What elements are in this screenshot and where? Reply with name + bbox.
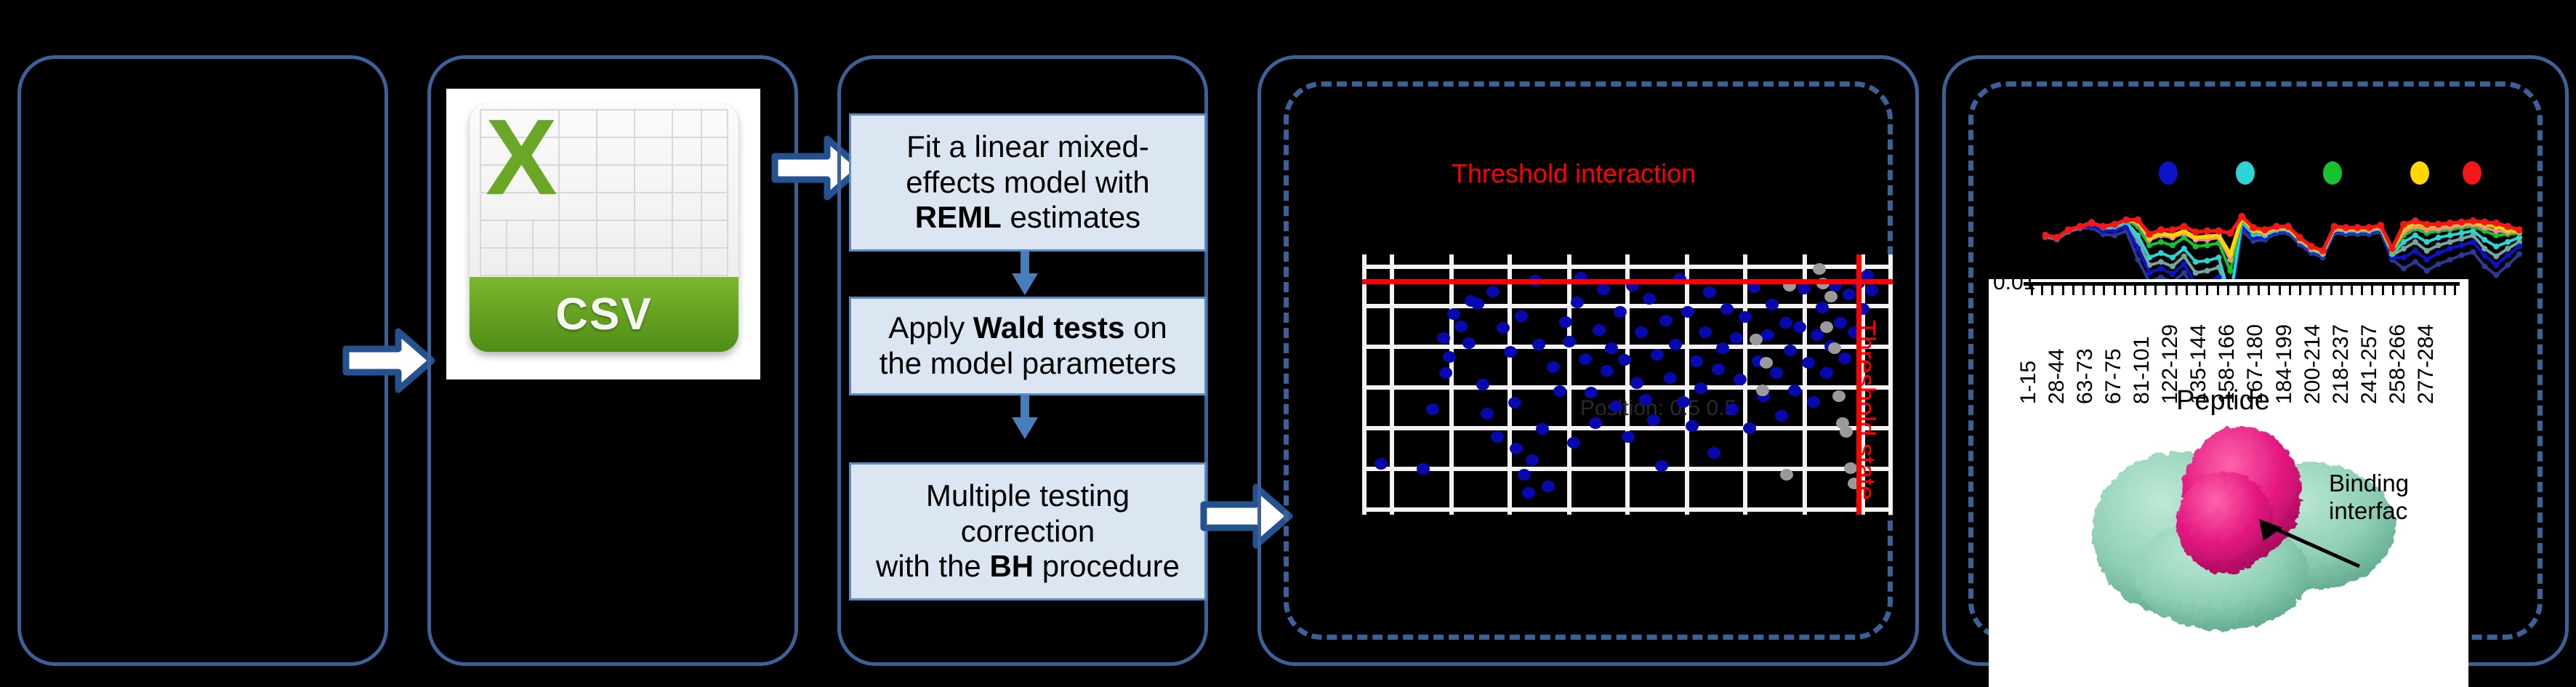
line-point-series-cyan bbox=[2181, 246, 2187, 252]
line-point-series-red bbox=[2308, 243, 2315, 250]
line-point-series-navy bbox=[2181, 270, 2187, 276]
line-point-series-blue bbox=[2424, 257, 2430, 262]
line-point-series-cyan bbox=[2193, 259, 2199, 265]
line-point-series-red bbox=[2077, 223, 2084, 230]
line-point-series-teal bbox=[2401, 246, 2407, 252]
protein-structure-image bbox=[2069, 417, 2418, 635]
x-axis-title: Peptide bbox=[2176, 385, 2270, 417]
scatter-point-significant bbox=[1843, 289, 1856, 300]
scatter-point-significant bbox=[1559, 316, 1572, 328]
line-point-series-blue bbox=[2436, 250, 2442, 256]
line-point-series-cyan bbox=[2447, 233, 2453, 238]
scatter-point-significant bbox=[1766, 299, 1779, 310]
line-point-series-red bbox=[2388, 245, 2396, 252]
scatter-point-significant bbox=[1426, 403, 1439, 415]
line-point-series-navy bbox=[2436, 261, 2442, 267]
scatter-point-significant bbox=[1820, 367, 1833, 379]
line-point-series-teal bbox=[2493, 254, 2499, 260]
scatter-point-nonsignificant bbox=[1813, 263, 1826, 275]
scatter-point-nonsignificant bbox=[1832, 390, 1846, 402]
multiple-testing-box-text: Multiple testing correction with the BH … bbox=[872, 478, 1184, 584]
line-point-series-cyan bbox=[2158, 250, 2164, 256]
line-point-series-green bbox=[2193, 244, 2199, 249]
scatter-point-nonsignificant bbox=[1756, 385, 1769, 396]
scatter-point-significant bbox=[1655, 460, 1668, 472]
csv-icon-card: X CSV bbox=[446, 89, 760, 379]
scatter-point-significant bbox=[1553, 385, 1566, 397]
scatter-point-significant bbox=[1589, 417, 1602, 429]
fit-model-box-text: Fit a linear mixed- effects model with R… bbox=[901, 129, 1154, 236]
line-point-series-teal bbox=[2482, 246, 2487, 252]
line-point-series-green bbox=[2158, 239, 2164, 245]
peptide-tick-label: 81-101 bbox=[2130, 337, 2154, 404]
scatter-point-significant bbox=[1447, 308, 1460, 320]
line-point-series-navy bbox=[2135, 257, 2141, 262]
line-point-series-blue bbox=[2412, 248, 2418, 254]
line-point-series-cyan bbox=[2205, 258, 2210, 264]
line-point-series-blue bbox=[2146, 270, 2152, 276]
scatter-point-significant bbox=[1522, 487, 1535, 499]
scatter-point-significant bbox=[1651, 349, 1664, 361]
scatter-point-significant bbox=[1471, 298, 1484, 310]
fit-model-box[interactable]: Fit a linear mixed- effects model with R… bbox=[849, 113, 1207, 252]
line-point-series-green bbox=[2227, 268, 2233, 273]
scatter-point-significant bbox=[1571, 297, 1584, 308]
scatter-point-significant bbox=[1618, 354, 1631, 366]
scatter-point-significant bbox=[1567, 437, 1580, 449]
line-point-series-cyan bbox=[2216, 254, 2222, 260]
wald-tests-box[interactable]: Apply Wald tests on the model parameters bbox=[849, 297, 1207, 395]
scatter-point-significant bbox=[1761, 329, 1774, 341]
scatter-point-significant bbox=[1784, 345, 1797, 356]
line-point-series-teal bbox=[2459, 236, 2465, 241]
line-point-series-red bbox=[2492, 220, 2500, 227]
scatter-point-significant bbox=[1510, 443, 1523, 454]
scatter-point-significant bbox=[1659, 315, 1673, 326]
line-point-series-red bbox=[2458, 219, 2466, 226]
scatter-point-significant bbox=[1579, 353, 1592, 365]
threshold-state-label: Threshold state bbox=[1851, 320, 1881, 500]
scatter-point-significant bbox=[1476, 379, 1489, 390]
scatter-point-significant bbox=[1734, 374, 1747, 385]
peptide-tick-label: 184-199 bbox=[2272, 324, 2297, 404]
line-point-series-red bbox=[2481, 219, 2488, 226]
line-point-series-cyan bbox=[2146, 254, 2152, 260]
scatter-point-significant bbox=[1686, 420, 1699, 432]
scatter-point-significant bbox=[1374, 458, 1388, 470]
x-axis-tick-labels: 1-1528-4463-7367-7581-101122-129135-1441… bbox=[1989, 279, 2468, 381]
line-point-series-teal bbox=[2447, 239, 2453, 245]
csv-file-icon: X CSV bbox=[470, 103, 738, 352]
line-point-series-blue bbox=[2170, 271, 2175, 277]
scatter-point-significant bbox=[1437, 332, 1450, 344]
line-point-series-blue bbox=[2181, 261, 2187, 267]
line-point-series-blue bbox=[2516, 244, 2522, 249]
line-point-series-red bbox=[2111, 221, 2118, 228]
peptide-tick-label: 241-257 bbox=[2357, 324, 2382, 404]
scatter-point-significant bbox=[1542, 481, 1555, 492]
legend-dot-cyan bbox=[2236, 161, 2255, 185]
line-point-series-red bbox=[2377, 222, 2384, 229]
peptide-tick-label: 277-284 bbox=[2414, 324, 2439, 404]
scatter-point-significant bbox=[1563, 336, 1576, 347]
line-point-series-navy bbox=[2412, 259, 2418, 265]
line-point-series-red bbox=[2412, 217, 2419, 225]
scatter-point-significant bbox=[1699, 326, 1712, 338]
peptide-tick-label: 258-266 bbox=[2386, 324, 2410, 404]
line-point-series-red bbox=[2296, 234, 2303, 241]
scatter-point-significant bbox=[1601, 365, 1614, 377]
line-point-series-red bbox=[2100, 223, 2107, 230]
line-point-series-red bbox=[2146, 230, 2153, 238]
line-point-series-red bbox=[2285, 223, 2292, 230]
line-point-series-red bbox=[2226, 230, 2234, 237]
scatter-point-nonsignificant bbox=[1820, 321, 1833, 333]
block-arrow-input-to-csv bbox=[342, 326, 436, 395]
results-white-card: 0.01 1-1528-4463-7367-7581-101122-129135… bbox=[1989, 279, 2468, 687]
threshold-interaction-line bbox=[1362, 279, 1893, 284]
legend-dot-blue bbox=[2159, 161, 2178, 185]
diagram-canvas: X CSV Fit a linear mixed- effects model … bbox=[0, 0, 2576, 687]
scatter-point-significant bbox=[1802, 357, 1815, 369]
scatter-point-significant bbox=[1865, 284, 1878, 296]
peptide-tick-label: 200-214 bbox=[2301, 324, 2325, 404]
line-point-series-red bbox=[2343, 224, 2350, 231]
line-point-series-cyan bbox=[2505, 239, 2511, 245]
line-point-series-navy bbox=[2493, 273, 2499, 278]
scatter-point-significant bbox=[1694, 382, 1707, 394]
scatter-point-significant bbox=[1462, 337, 1476, 349]
line-point-series-teal bbox=[2424, 248, 2430, 254]
binding-interface-line1: Binding bbox=[2329, 470, 2409, 497]
scatter-point-significant bbox=[1532, 339, 1545, 350]
scatter-point-significant bbox=[1739, 311, 1752, 323]
line-point-series-cyan bbox=[2170, 254, 2175, 260]
scatter-point-significant bbox=[1635, 326, 1648, 338]
line-point-series-red bbox=[2134, 217, 2141, 224]
scatter-point-significant bbox=[1497, 322, 1510, 334]
scatter-point-significant bbox=[1707, 447, 1720, 459]
scatter-point-nonsignificant bbox=[1760, 357, 1773, 369]
scatter-point-significant bbox=[1526, 454, 1539, 466]
scatter-point-significant bbox=[1743, 422, 1756, 434]
line-point-series-navy bbox=[2482, 263, 2487, 269]
scatter-point-significant bbox=[1481, 408, 1494, 419]
scatter-point-significant bbox=[1622, 431, 1635, 443]
line-point-series-red bbox=[2157, 226, 2165, 233]
scatter-point-significant bbox=[1585, 387, 1598, 398]
line-point-series-blue bbox=[2135, 246, 2141, 252]
line-point-series-teal bbox=[2412, 239, 2418, 245]
scatter-point-significant bbox=[1730, 332, 1743, 344]
scatter-point-nonsignificant bbox=[1750, 334, 1763, 345]
scatter-point-significant bbox=[1536, 423, 1549, 435]
scatter-point-significant bbox=[1547, 361, 1560, 373]
threshold-interaction-label: Threshold interaction bbox=[1452, 158, 1696, 189]
line-point-series-cyan bbox=[2135, 233, 2141, 238]
legend-dot-green bbox=[2323, 161, 2342, 185]
line-point-series-blue bbox=[2505, 252, 2511, 258]
scatter-point-significant bbox=[1669, 339, 1682, 350]
line-point-series-salmon bbox=[2227, 257, 2233, 262]
line-point-series-blue bbox=[2459, 242, 2465, 248]
scatter-point-significant bbox=[1647, 414, 1660, 426]
line-point-series-blue bbox=[2493, 262, 2499, 268]
line-point-series-red bbox=[2261, 226, 2269, 233]
line-point-series-red bbox=[2273, 223, 2280, 230]
line-point-series-red bbox=[2065, 226, 2072, 233]
line-point-series-navy bbox=[2505, 262, 2511, 268]
line-point-series-red bbox=[2435, 221, 2442, 228]
scatter-point-significant bbox=[1834, 317, 1847, 329]
binding-interface-line2: interfac bbox=[2329, 497, 2409, 525]
peptide-tick-label: 1-15 bbox=[2016, 361, 2041, 404]
line-point-series-red bbox=[2088, 220, 2096, 227]
scatter-point-significant bbox=[1443, 351, 1456, 363]
line-point-series-red bbox=[2181, 223, 2188, 230]
line-point-series-cyan bbox=[2482, 237, 2487, 243]
scatter-point-significant bbox=[1807, 396, 1820, 408]
scatter-point-significant bbox=[1417, 463, 1430, 475]
line-point-series-red bbox=[2319, 247, 2327, 254]
peptide-tick-label: 63-73 bbox=[2073, 348, 2098, 404]
line-point-series-teal bbox=[2181, 254, 2187, 260]
line-point-series-red bbox=[2504, 223, 2511, 230]
binding-interface-annotation: Binding interfac bbox=[2329, 470, 2409, 525]
line-point-series-cyan bbox=[2459, 230, 2465, 236]
wald-tests-box-text: Apply Wald tests on the model parameters bbox=[875, 310, 1181, 381]
scatter-point-significant bbox=[1681, 306, 1694, 318]
scatter-point-significant bbox=[1788, 385, 1801, 396]
line-point-series-navy bbox=[2424, 268, 2430, 273]
line-point-series-cyan bbox=[2436, 235, 2442, 241]
scatter-point-significant bbox=[1690, 355, 1703, 367]
scatter-point-significant bbox=[1798, 283, 1811, 294]
line-point-series-teal bbox=[2205, 268, 2210, 273]
scatter-point-significant bbox=[1677, 396, 1690, 408]
scatter-point-significant bbox=[1486, 286, 1500, 297]
scatter-point-significant bbox=[1518, 469, 1531, 481]
scatter-point-significant bbox=[1793, 321, 1806, 333]
line-point-series-green bbox=[2170, 242, 2175, 248]
line-point-series-cyan bbox=[2493, 244, 2499, 249]
scatter-point-nonsignificant bbox=[1824, 291, 1838, 302]
scatter-point-layer bbox=[1362, 254, 1893, 515]
series-legend-dots bbox=[2159, 161, 2486, 190]
scatter-point-significant bbox=[1508, 397, 1521, 409]
scatter-point-significant bbox=[1716, 342, 1729, 354]
scatter-point-significant bbox=[1515, 310, 1528, 322]
scatter-point-significant bbox=[1838, 353, 1851, 364]
line-point-series-blue bbox=[2158, 265, 2164, 271]
scatter-point-significant bbox=[1712, 363, 1725, 375]
line-point-series-red bbox=[2192, 228, 2199, 236]
peptide-tick-label: 67-75 bbox=[2101, 348, 2126, 404]
line-point-series-navy bbox=[2470, 249, 2476, 255]
line-point-series-teal bbox=[2193, 270, 2199, 276]
csv-icon-x-letter: X bbox=[486, 112, 558, 204]
scatter-point-significant bbox=[1639, 394, 1652, 406]
multiple-testing-box[interactable]: Multiple testing correction with the BH … bbox=[849, 462, 1207, 600]
down-arrow-wald-to-bh bbox=[1005, 395, 1045, 441]
line-point-series-cyan bbox=[2412, 233, 2418, 238]
line-point-series-red bbox=[2238, 213, 2245, 220]
scatter-point-significant bbox=[1491, 431, 1504, 443]
scatter-point-significant bbox=[1454, 321, 1468, 332]
volcano-scatter-plot: Position: 0.5 0.5 bbox=[1362, 254, 1893, 515]
scatter-point-significant bbox=[1593, 324, 1606, 336]
line-point-series-navy bbox=[2447, 257, 2453, 262]
scatter-point-significant bbox=[1597, 284, 1610, 295]
scatter-point-significant bbox=[1726, 403, 1739, 415]
line-point-series-blue bbox=[2482, 252, 2487, 258]
line-point-series-red bbox=[2469, 217, 2476, 225]
scatter-point-significant bbox=[1643, 293, 1656, 305]
panel-input-stage bbox=[17, 55, 388, 666]
line-point-series-navy bbox=[2459, 252, 2465, 258]
scatter-point-significant bbox=[1816, 302, 1829, 313]
legend-dot-red bbox=[2463, 161, 2482, 185]
peptide-tick-label: 218-237 bbox=[2329, 324, 2354, 404]
scatter-point-nonsignificant bbox=[1780, 469, 1793, 481]
line-point-series-red bbox=[2204, 228, 2211, 235]
down-arrow-model-to-wald bbox=[1005, 252, 1045, 297]
scatter-point-significant bbox=[1614, 306, 1627, 318]
scatter-point-significant bbox=[1770, 367, 1783, 379]
line-point-series-navy bbox=[2516, 252, 2522, 257]
scatter-point-significant bbox=[1779, 317, 1792, 329]
line-point-series-red bbox=[2169, 226, 2176, 233]
peptide-tick-label: 28-44 bbox=[2045, 348, 2069, 404]
line-point-series-blue bbox=[2401, 254, 2407, 260]
line-point-series-blue bbox=[2447, 246, 2453, 252]
scatter-point-significant bbox=[1775, 410, 1788, 422]
line-point-series-red bbox=[2331, 223, 2338, 230]
scatter-point-significant bbox=[1630, 377, 1643, 389]
line-point-series-teal bbox=[2158, 259, 2164, 265]
line-point-series-red bbox=[2447, 220, 2454, 227]
line-point-series-red bbox=[2365, 224, 2372, 231]
line-point-series-red bbox=[2250, 224, 2257, 231]
scatter-point-significant bbox=[1439, 367, 1452, 379]
scatter-point-significant bbox=[1720, 303, 1734, 315]
csv-icon-label: CSV bbox=[555, 289, 652, 340]
line-point-series-red bbox=[2400, 221, 2407, 228]
scatter-point-significant bbox=[1609, 401, 1622, 412]
line-point-series-red bbox=[2354, 224, 2361, 231]
line-point-series-red bbox=[2053, 234, 2061, 241]
legend-dot-yellow bbox=[2410, 161, 2429, 185]
csv-icon-sheet: X bbox=[470, 103, 738, 277]
line-point-series-teal bbox=[2505, 246, 2511, 252]
line-point-series-blue bbox=[2470, 239, 2476, 245]
line-point-series-red bbox=[2122, 217, 2130, 224]
line-point-series-green bbox=[2146, 242, 2152, 248]
line-point-series-cyan bbox=[2424, 239, 2430, 245]
line-point-series-navy bbox=[2401, 265, 2407, 271]
line-point-series-teal bbox=[2170, 263, 2175, 269]
csv-icon-banner: CSV bbox=[470, 277, 738, 352]
line-point-series-green bbox=[2205, 242, 2210, 248]
line-point-series-red bbox=[2423, 221, 2431, 228]
scatter-point-significant bbox=[1703, 286, 1716, 298]
scatter-point-significant bbox=[1504, 346, 1517, 358]
line-point-series-teal bbox=[2436, 242, 2442, 248]
line-point-series-yellow bbox=[2227, 252, 2233, 257]
scatter-point-significant bbox=[1664, 372, 1677, 384]
scatter-point-significant bbox=[1605, 342, 1618, 354]
line-point-series-red bbox=[2215, 228, 2223, 235]
scatter-point-nonsignificant bbox=[1828, 342, 1841, 354]
